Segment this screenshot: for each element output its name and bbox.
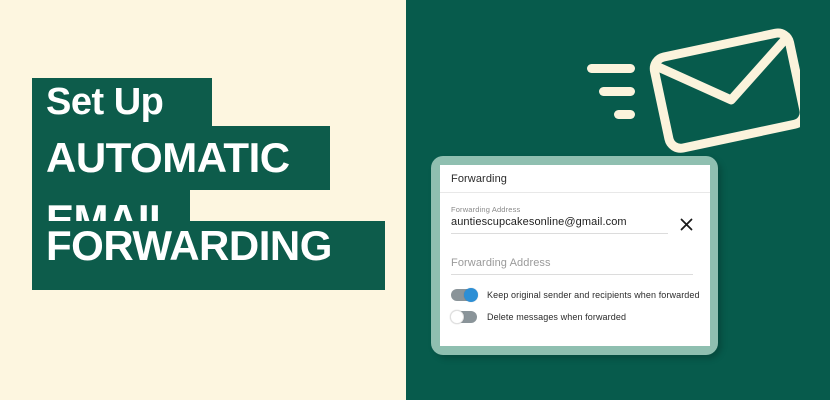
close-icon-glyph: [680, 218, 693, 231]
forwarding-address-empty-field[interactable]: Forwarding Address: [451, 255, 693, 275]
card-header: Forwarding: [440, 165, 710, 193]
toggle-knob: [450, 310, 464, 324]
close-icon[interactable]: [674, 212, 698, 236]
hero-illustration: [585, 28, 800, 153]
headline-line-1: Set Up: [32, 78, 212, 126]
forwarding-address-field[interactable]: Forwarding Address auntiescupcakesonline…: [451, 205, 668, 234]
headline-line-4: FORWARDING: [32, 221, 385, 290]
toggle-row-keep-original[interactable]: Keep original sender and recipients when…: [451, 289, 698, 301]
headline-line-2-text: AUTOMATIC: [46, 134, 290, 182]
headline-line-2: AUTOMATIC: [32, 126, 330, 190]
forwarding-address-row: Forwarding Address auntiescupcakesonline…: [451, 205, 698, 234]
card-title: Forwarding: [451, 173, 507, 185]
delete-messages-toggle[interactable]: [451, 311, 477, 323]
headline-line-4-text: FORWARDING: [46, 222, 332, 270]
card-surface: Forwarding Forwarding Address auntiescup…: [440, 165, 710, 346]
card-body: Forwarding Address auntiescupcakesonline…: [440, 193, 710, 323]
forwarding-address-label: Forwarding Address: [451, 205, 668, 215]
forwarding-address-placeholder: Forwarding Address: [451, 255, 693, 271]
poster-canvas: Set Up AUTOMATIC EMAIL FORWARDING Forwar…: [0, 0, 830, 400]
delete-messages-toggle-label: Delete messages when forwarded: [487, 312, 626, 322]
headline-group: Set Up AUTOMATIC EMAIL FORWARDING: [0, 0, 406, 400]
envelope-icon: [585, 28, 800, 153]
toggle-row-delete-messages[interactable]: Delete messages when forwarded: [451, 311, 698, 323]
toggle-knob: [464, 288, 478, 302]
keep-original-toggle[interactable]: [451, 289, 477, 301]
headline-line-3: EMAIL: [32, 190, 190, 221]
headline-line-1-text: Set Up: [46, 81, 163, 124]
forwarding-settings-card: Forwarding Forwarding Address auntiescup…: [431, 156, 718, 355]
forwarding-address-value[interactable]: auntiescupcakesonline@gmail.com: [451, 215, 668, 230]
keep-original-toggle-label: Keep original sender and recipients when…: [487, 290, 700, 300]
